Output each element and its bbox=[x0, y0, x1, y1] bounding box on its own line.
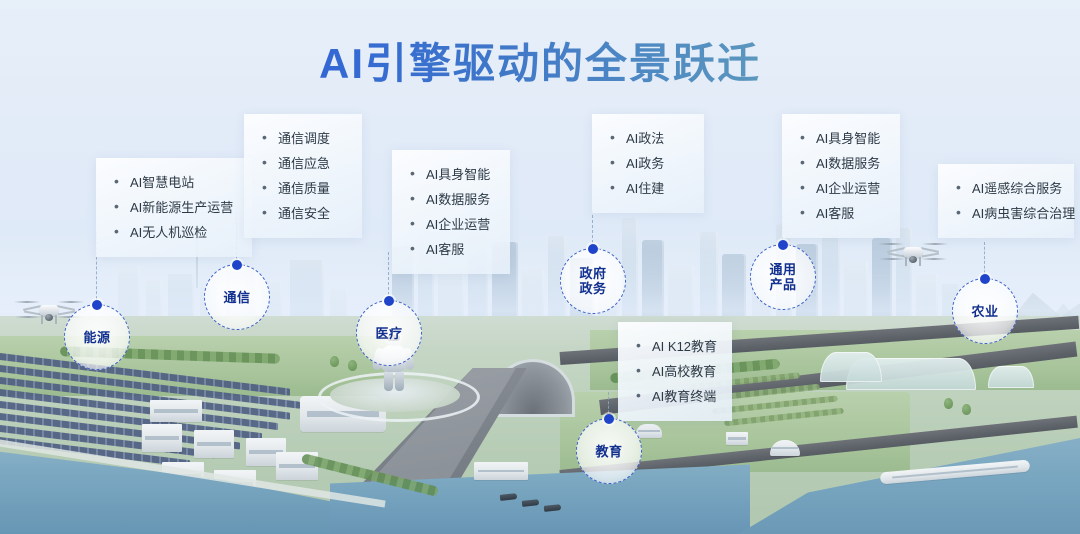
list-item: AI教育终端 bbox=[632, 384, 716, 409]
callout-card-medical: AI具身智能 AI数据服务 AI企业运营 AI客服 bbox=[392, 150, 510, 274]
park-pavilion bbox=[636, 424, 662, 438]
node-label-medical: 医疗 bbox=[375, 326, 402, 341]
list-item: AI客服 bbox=[406, 237, 494, 262]
node-label-energy: 能源 bbox=[83, 330, 110, 345]
node-label-telecom: 通信 bbox=[223, 290, 250, 305]
node-label-general: 通用 产品 bbox=[769, 262, 796, 292]
connector-medical bbox=[388, 252, 389, 300]
park-pavilion bbox=[726, 432, 748, 445]
list-item: 通信应急 bbox=[258, 151, 346, 176]
callout-card-agriculture: AI遥感综合服务 AI病虫害综合治理 bbox=[938, 164, 1074, 238]
list-item: AI具身智能 bbox=[406, 162, 494, 187]
callout-card-energy: AI智慧电站 AI新能源生产运营 AI无人机巡检 bbox=[96, 158, 252, 257]
node-marker-dot bbox=[232, 260, 242, 270]
node-marker-dot bbox=[604, 414, 614, 424]
callout-card-education: AI K12教育 AI高校教育 AI教育终端 bbox=[618, 322, 732, 421]
campus-building bbox=[194, 430, 234, 458]
connector-government bbox=[592, 210, 593, 248]
node-label-government: 政府 政务 bbox=[579, 266, 606, 296]
node-marker-dot bbox=[980, 274, 990, 284]
list-item: AI数据服务 bbox=[796, 151, 884, 176]
list-item: AI政法 bbox=[606, 126, 688, 151]
node-government[interactable]: 政府 政务 bbox=[560, 248, 626, 314]
waterfront-building bbox=[474, 462, 528, 480]
list-item: 通信质量 bbox=[258, 176, 346, 201]
connector-agriculture bbox=[984, 242, 985, 278]
list-item: AI企业运营 bbox=[406, 212, 494, 237]
list-item: AI具身智能 bbox=[796, 126, 884, 151]
list-item: AI智慧电站 bbox=[110, 170, 236, 195]
slide-canvas: AI引擎驱动的全景跃迁 AI智慧电站 AI新能源生产运营 AI无人机巡检 通信调… bbox=[0, 0, 1080, 534]
node-label-education: 教育 bbox=[595, 444, 622, 459]
list-item: 通信调度 bbox=[258, 126, 346, 151]
list-item: AI新能源生产运营 bbox=[110, 195, 236, 220]
node-telecom[interactable]: 通信 bbox=[204, 264, 270, 330]
callout-card-general: AI具身智能 AI数据服务 AI企业运营 AI客服 bbox=[782, 114, 900, 238]
list-item: AI高校教育 bbox=[632, 359, 716, 384]
list-item: AI无人机巡检 bbox=[110, 220, 236, 245]
node-label-agriculture: 农业 bbox=[971, 304, 998, 319]
list-item: AI政务 bbox=[606, 151, 688, 176]
node-marker-dot bbox=[384, 296, 394, 306]
node-energy[interactable]: 能源 bbox=[64, 304, 130, 370]
callout-card-telecom: 通信调度 通信应急 通信质量 通信安全 bbox=[244, 114, 362, 238]
list-item: AI遥感综合服务 bbox=[952, 176, 1058, 201]
list-item: AI病虫害综合治理 bbox=[952, 201, 1058, 226]
node-label-line2: 政务 bbox=[579, 281, 606, 296]
node-general[interactable]: 通用 产品 bbox=[750, 244, 816, 310]
list-item: AI K12教育 bbox=[632, 334, 716, 359]
node-marker-dot bbox=[588, 244, 598, 254]
node-label-line1: 通用 bbox=[769, 262, 796, 277]
list-item: AI数据服务 bbox=[406, 187, 494, 212]
greenhouse-dome-icon bbox=[820, 352, 882, 382]
campus-building bbox=[142, 424, 182, 452]
campus-building bbox=[150, 400, 202, 422]
callout-card-government: AI政法 AI政务 AI住建 bbox=[592, 114, 704, 213]
list-item: AI企业运营 bbox=[796, 176, 884, 201]
list-item: AI住建 bbox=[606, 176, 688, 201]
list-item: AI客服 bbox=[796, 201, 884, 226]
greenhouse-small-icon bbox=[988, 366, 1034, 388]
node-education[interactable]: 教育 bbox=[576, 418, 642, 484]
node-marker-dot bbox=[92, 300, 102, 310]
node-medical[interactable]: 医疗 bbox=[356, 300, 422, 366]
node-label-line2: 产品 bbox=[769, 277, 796, 292]
node-label-line1: 政府 bbox=[579, 266, 606, 281]
page-title: AI引擎驱动的全景跃迁 bbox=[0, 30, 1080, 91]
drone-icon bbox=[884, 238, 942, 268]
node-agriculture[interactable]: 农业 bbox=[952, 278, 1018, 344]
list-item: 通信安全 bbox=[258, 201, 346, 226]
node-marker-dot bbox=[778, 240, 788, 250]
